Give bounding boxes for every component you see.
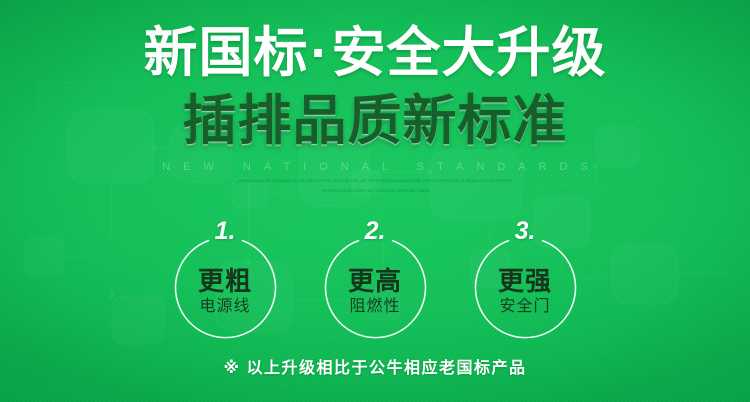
feature-description: 安全门	[499, 296, 550, 318]
headline-microtext-line-1: CROSS NAVIGATION STANDARDS IN THE CHECK …	[0, 174, 750, 184]
headline-separator: ·	[309, 22, 332, 84]
feature-title: 更高	[348, 266, 402, 296]
feature-text: 更高 阻燃性	[322, 236, 429, 343]
feature-text: 更粗 电源线	[172, 236, 279, 343]
footnote-mark-icon: ※	[223, 360, 240, 377]
headline-secondary: 插排品质新标准	[0, 84, 750, 152]
feature-item-1: 1. 更粗 电源线	[172, 236, 279, 343]
feature-description: 阻燃性	[349, 296, 400, 318]
headline-microtext-line-2: THE PRODUCE AND VERIFY ALL FIELDS AND OT…	[0, 184, 750, 194]
footnote: ※ 以上升级相比于公牛相应老国标产品	[0, 358, 750, 380]
feature-text: 更强 安全门	[472, 236, 579, 343]
feature-description: 电源线	[199, 296, 250, 318]
feature-title: 更强	[498, 266, 552, 296]
headline-primary-part2: 安全大升级	[331, 23, 606, 83]
headline-block: 新国标·安全大升级 插排品质新标准 NEW NATIONAL STANDARDS…	[0, 0, 750, 195]
feature-title: 更粗	[198, 266, 252, 296]
headline-english: NEW NATIONAL STANDARDS	[0, 152, 750, 174]
feature-list: 1. 更粗 电源线 2. 更高 阻燃性 3. 更强 安全门	[0, 236, 750, 343]
promo-banner: 新国标·安全大升级 插排品质新标准 NEW NATIONAL STANDARDS…	[0, 0, 750, 402]
feature-item-2: 2. 更高 阻燃性	[322, 236, 429, 343]
footnote-text: 以上升级相比于公牛相应老国标产品	[247, 360, 527, 377]
headline-primary: 新国标·安全大升级	[0, 0, 750, 84]
feature-item-3: 3. 更强 安全门	[472, 236, 579, 343]
headline-primary-part1: 新国标	[144, 23, 309, 83]
